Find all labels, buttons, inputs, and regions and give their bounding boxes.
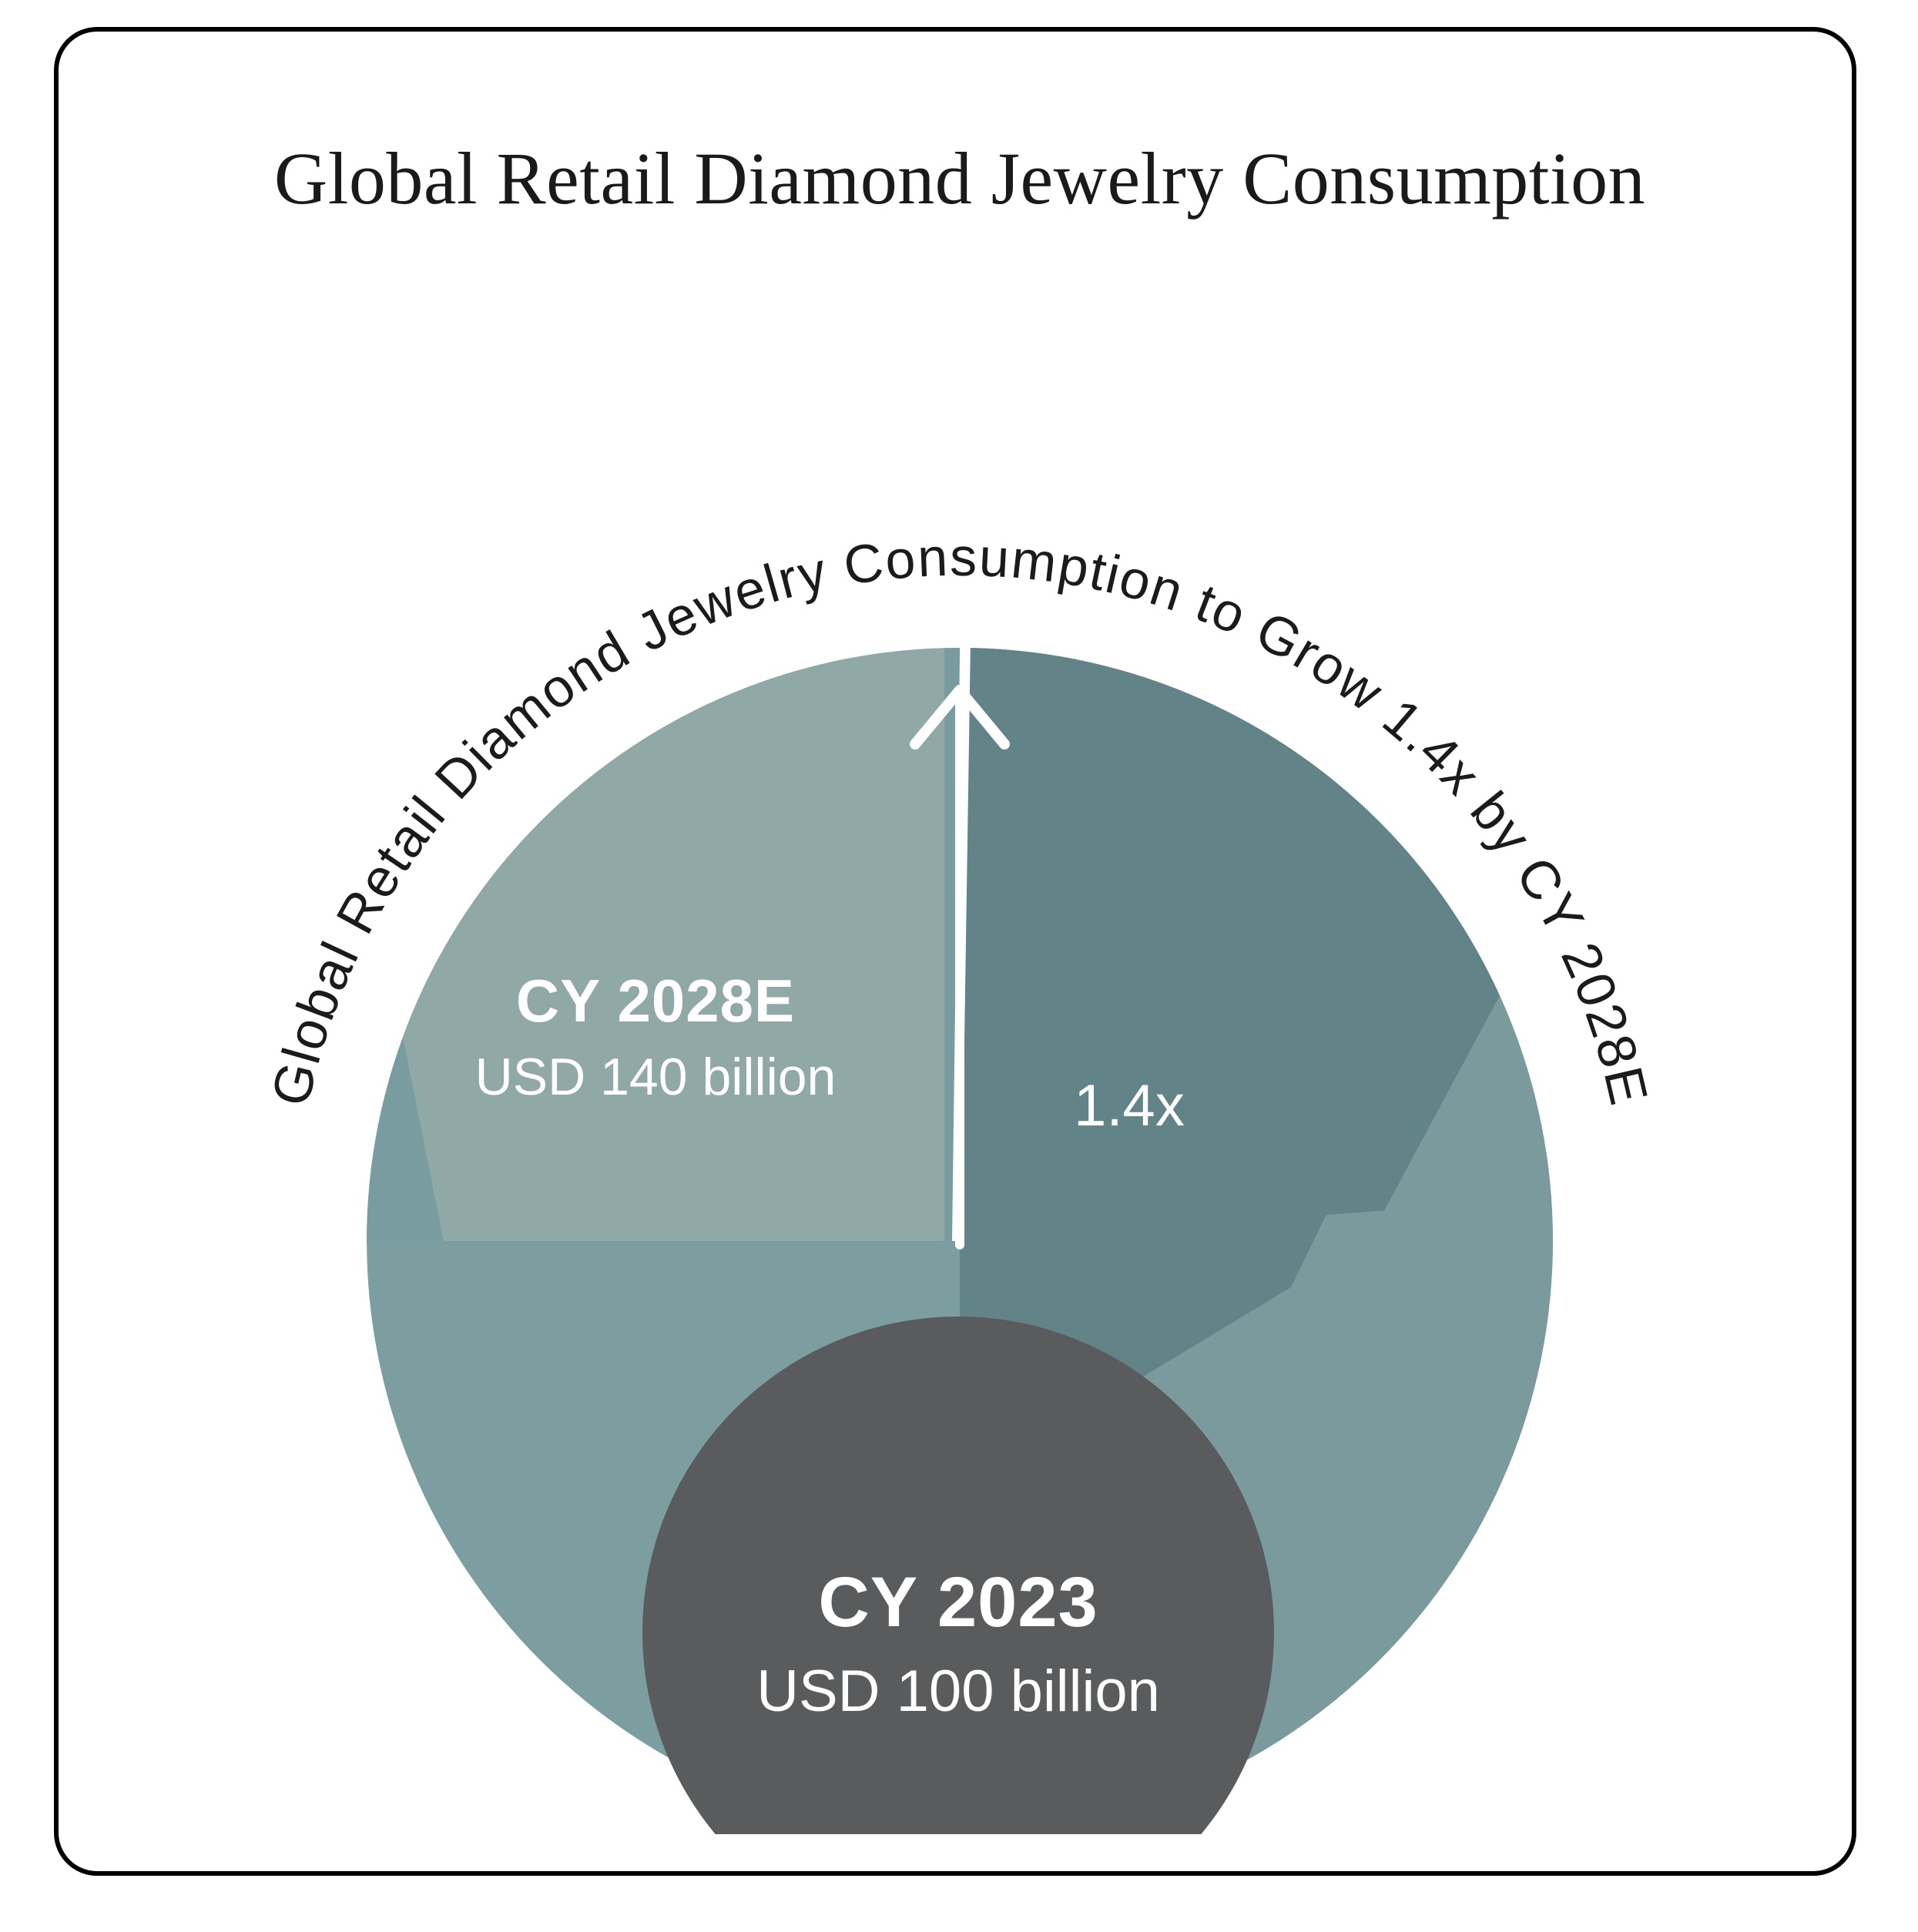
outer-bubble-value-label: USD 140 billion bbox=[475, 1048, 837, 1106]
multiplier-label: 1.4x bbox=[1074, 1073, 1185, 1139]
page-title: Global Retail Diamond Jewelry Consumptio… bbox=[59, 136, 1861, 221]
outer-bubble-year-label: CY 2028E bbox=[516, 967, 795, 1035]
inner-bubble-value-label: USD 100 billion bbox=[756, 1659, 1160, 1724]
inner-bubble-year-label: CY 2023 bbox=[818, 1563, 1098, 1642]
infographic-card: Global Retail Diamond Jewelry Consumptio… bbox=[54, 27, 1856, 1876]
bubble-chart: CY 2028E USD 140 billion 1.4x CY 2023 US… bbox=[59, 286, 1861, 1834]
